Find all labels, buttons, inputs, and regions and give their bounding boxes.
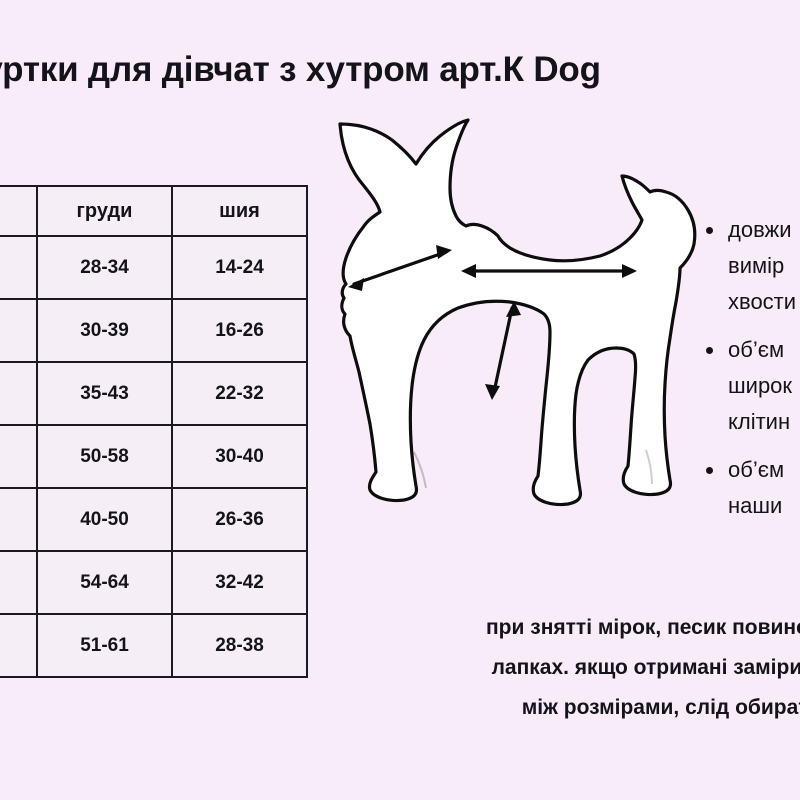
cell-chest: 28-34 (37, 236, 172, 299)
cell-neck: 32-42 (172, 551, 307, 614)
bullet-line: наши (728, 493, 782, 518)
bullet-line: об’єм (728, 457, 784, 482)
table-row: 50-58 30-40 (0, 425, 307, 488)
size-table-container: а груди шия 28-34 14-24 30-39 16-26 (0, 185, 306, 664)
cell-size (0, 236, 37, 299)
column-header-size: а (0, 186, 37, 236)
bullet-line: вимір (728, 253, 784, 278)
measurement-instructions-list: довжи вимір хвости об’єм широк клітин об… (700, 212, 800, 536)
column-header-neck: шия (172, 186, 307, 236)
bullet-line: довжи (728, 217, 792, 242)
list-item: об’єм широк клітин (700, 332, 800, 440)
cell-chest: 54-64 (37, 551, 172, 614)
chest-girth-arrow-icon (485, 301, 521, 400)
cell-neck: 30-40 (172, 425, 307, 488)
bullet-line: хвости (728, 289, 796, 314)
cell-size (0, 362, 37, 425)
page-title: куртки для дівчат з хутром арт.К Dog (0, 52, 800, 87)
cell-neck: 22-32 (172, 362, 307, 425)
table-header-row: а груди шия (0, 186, 307, 236)
cell-size (0, 551, 37, 614)
table-row: 30-39 16-26 (0, 299, 307, 362)
table-row: 35-43 22-32 (0, 362, 307, 425)
cell-chest: 30-39 (37, 299, 172, 362)
cell-neck: 16-26 (172, 299, 307, 362)
cell-chest: 35-43 (37, 362, 172, 425)
cell-size (0, 299, 37, 362)
cell-chest: 51-61 (37, 614, 172, 677)
column-header-chest: груди (37, 186, 172, 236)
table-row: 54-64 32-42 (0, 551, 307, 614)
bullet-line: клітин (728, 409, 790, 434)
cell-size (0, 614, 37, 677)
cell-chest: 50-58 (37, 425, 172, 488)
table-row: 40-50 26-36 (0, 488, 307, 551)
dog-illustration (328, 112, 706, 516)
note-line-3: між розмірами, слід обирати б (342, 688, 800, 728)
list-item: довжи вимір хвости (700, 212, 800, 320)
size-chart-page: куртки для дівчат з хутром арт.К Dog а г… (0, 0, 800, 800)
cell-chest: 40-50 (37, 488, 172, 551)
table-row: 51-61 28-38 (0, 614, 307, 677)
size-table: а груди шия 28-34 14-24 30-39 16-26 (0, 185, 308, 678)
cell-neck: 14-24 (172, 236, 307, 299)
cell-size (0, 425, 37, 488)
list-item: об’єм наши (700, 452, 800, 524)
note-line-1: при знятті мірок, песик повинен с (342, 608, 800, 648)
measurement-note: при знятті мірок, песик повинен с лапках… (342, 608, 800, 728)
bullet-line: широк (728, 373, 792, 398)
cell-neck: 26-36 (172, 488, 307, 551)
bullet-line: об’єм (728, 337, 784, 362)
note-line-2: лапках. якщо отримані заміри пе (342, 648, 800, 688)
cell-neck: 28-38 (172, 614, 307, 677)
cell-size (0, 488, 37, 551)
table-row: 28-34 14-24 (0, 236, 307, 299)
